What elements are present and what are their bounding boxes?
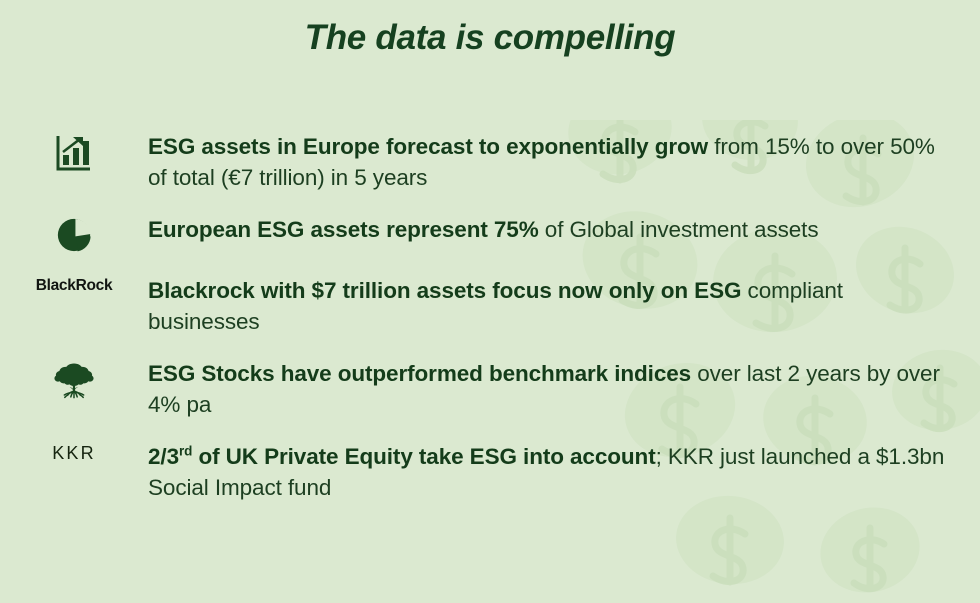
- page-title: The data is compelling: [0, 18, 980, 58]
- blackrock-logo: BlackRock: [36, 277, 113, 295]
- bullet-icon-cell: [0, 358, 148, 402]
- slide-canvas: The data is compelling ESG assets in E: [0, 0, 980, 603]
- bullet-text: Blackrock with $7 trillion assets focus …: [148, 275, 980, 337]
- bullet-text: European ESG assets represent 75% of Glo…: [148, 214, 980, 245]
- tree-icon: [53, 360, 95, 402]
- bar-chart-growth-icon: [54, 133, 94, 173]
- bullet-text-bold: ESG Stocks have outperformed benchmark i…: [148, 361, 691, 386]
- bullet-text-bold: 2/3rd of UK Private Equity take ESG into…: [148, 444, 656, 469]
- bullet-text-bold: Blackrock with $7 trillion assets focus …: [148, 278, 741, 303]
- bullet-ordinal-suffix: rd: [179, 444, 192, 459]
- pie-chart-icon: [55, 216, 93, 254]
- bullet-text: ESG assets in Europe forecast to exponen…: [148, 131, 980, 193]
- bullet-fraction: 2/3: [148, 444, 179, 469]
- list-item: BlackRock Blackrock with $7 trillion ass…: [0, 275, 980, 337]
- bullet-text: 2/3rd of UK Private Equity take ESG into…: [148, 441, 980, 503]
- list-item: ESG Stocks have outperformed benchmark i…: [0, 358, 980, 420]
- bullet-icon-cell: KKR: [0, 441, 148, 464]
- bullet-text-bold: ESG assets in Europe forecast to exponen…: [148, 134, 708, 159]
- bullet-list: ESG assets in Europe forecast to exponen…: [0, 131, 980, 524]
- bullet-icon-cell: BlackRock: [0, 275, 148, 295]
- bullet-text: ESG Stocks have outperformed benchmark i…: [148, 358, 980, 420]
- list-item: European ESG assets represent 75% of Glo…: [0, 214, 980, 254]
- kkr-logo: KKR: [52, 443, 96, 464]
- bullet-text-bold-rest: of UK Private Equity take ESG into accou…: [192, 444, 655, 469]
- list-item: KKR 2/3rd of UK Private Equity take ESG …: [0, 441, 980, 503]
- bullet-text-rest: of Global investment assets: [539, 217, 819, 242]
- bullet-icon-cell: [0, 214, 148, 254]
- bullet-text-bold: European ESG assets represent 75%: [148, 217, 539, 242]
- bullet-icon-cell: [0, 131, 148, 173]
- list-item: ESG assets in Europe forecast to exponen…: [0, 131, 980, 193]
